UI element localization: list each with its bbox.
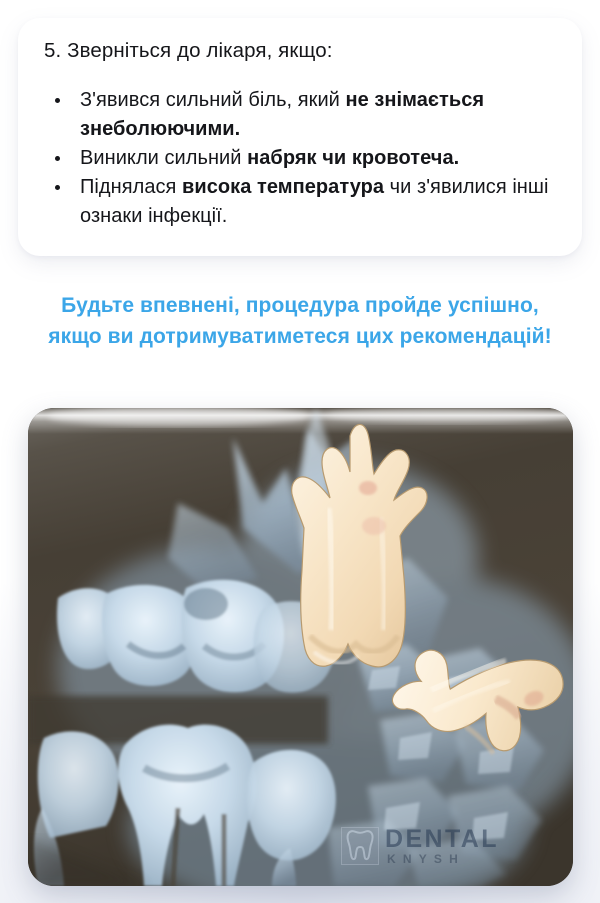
card-title: 5. Зверніться до лікаря, якщо: [44,38,556,64]
xray-illustration [28,408,573,886]
recommendation-card: 5. Зверніться до лікаря, якщо: З'явився … [18,18,582,256]
list-item-text-bold: набряк чи кровотеча. [247,147,459,169]
encouragement-callout: Будьте впевнені, процедура пройде успішн… [40,290,560,352]
list-item-text-bold: висока температура [182,176,390,198]
dental-xray-photo: DENTAL KNYSH [28,408,573,886]
brand-name: DENTAL [385,827,499,852]
list-item-text-normal: Виникли сильний [80,147,247,169]
bullet-dot-icon [55,98,60,103]
list-item-text-normal: З'явився сильний біль, який [80,89,346,111]
list-item: Виникли сильний набряк чи кровотеча. [44,144,556,173]
list-item-text-normal: Піднялася [80,176,182,198]
list-item: Піднялася висока температура чи з'явилис… [44,173,556,231]
poster-page: 5. Зверніться до лікаря, якщо: З'явився … [0,0,600,903]
tooth-icon [341,827,379,865]
bullet-dot-icon [55,156,60,161]
list-item: З'явився сильний біль, який не знімаєтьс… [44,86,556,144]
brand-text: DENTAL KNYSH [385,827,499,866]
warning-signs-list: З'явився сильний біль, який не знімаєтьс… [44,86,556,231]
brand-subname: KNYSH [385,852,499,866]
bullet-dot-icon [55,185,60,190]
brand-watermark: DENTAL KNYSH [341,820,529,872]
tooth-icon-glyph [342,828,378,864]
